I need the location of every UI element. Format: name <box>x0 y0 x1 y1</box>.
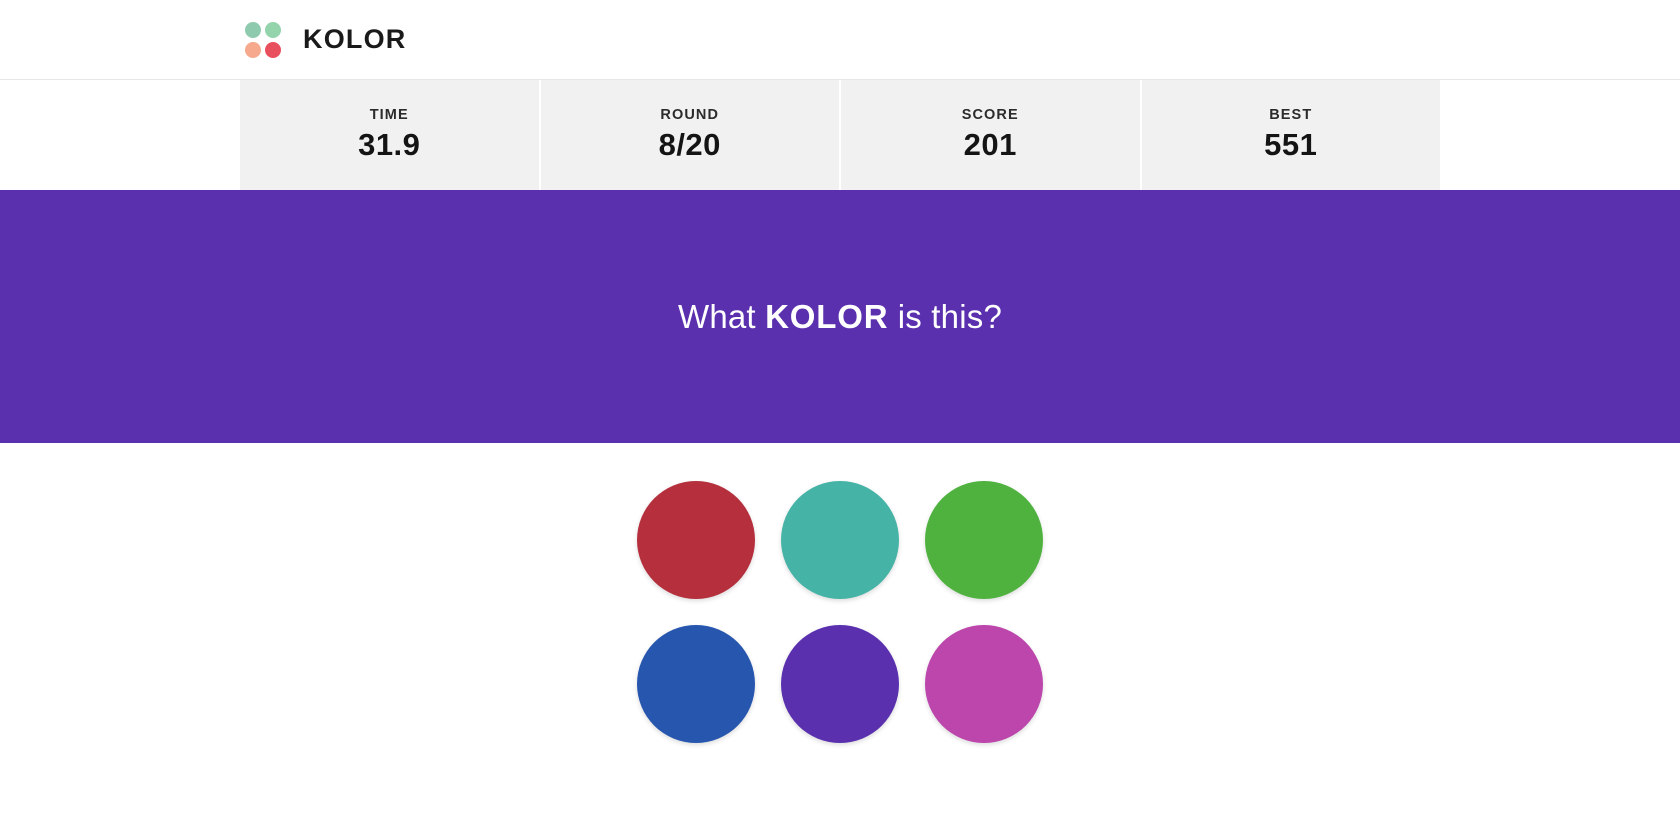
stat-round-label: ROUND <box>660 107 719 123</box>
stats-bar-wrapper: TIME 31.9 ROUND 8/20 SCORE 201 BEST 551 <box>0 80 1680 190</box>
stats-bar: TIME 31.9 ROUND 8/20 SCORE 201 BEST 551 <box>240 80 1440 190</box>
logo-dot-bottom-right <box>265 42 281 58</box>
stat-time-value: 31.9 <box>358 127 420 163</box>
logo-dots-icon <box>245 22 281 58</box>
swatch-red[interactable] <box>637 481 755 599</box>
app-header: KOLOR <box>0 0 1680 80</box>
question-suffix: is this? <box>888 298 1002 335</box>
stat-score-value: 201 <box>964 127 1017 163</box>
swatch-magenta[interactable] <box>925 625 1043 743</box>
stat-best-value: 551 <box>1264 127 1317 163</box>
question-keyword: KOLOR <box>765 298 888 335</box>
stat-time-label: TIME <box>370 107 409 123</box>
swatch-blue[interactable] <box>637 625 755 743</box>
swatch-purple[interactable] <box>781 625 899 743</box>
question-text: What KOLOR is this? <box>678 298 1002 336</box>
brand-logo[interactable]: KOLOR <box>245 22 407 58</box>
logo-dot-bottom-left <box>245 42 261 58</box>
question-prefix: What <box>678 298 765 335</box>
swatch-grid <box>637 481 1043 743</box>
logo-dot-top-left <box>245 22 261 38</box>
stat-score-label: SCORE <box>962 107 1019 123</box>
logo-dot-top-right <box>265 22 281 38</box>
stat-time: TIME 31.9 <box>240 80 541 190</box>
question-banner: What KOLOR is this? <box>0 190 1680 443</box>
brand-name: KOLOR <box>303 24 407 55</box>
swatch-green[interactable] <box>925 481 1043 599</box>
stat-round: ROUND 8/20 <box>541 80 842 190</box>
stat-round-value: 8/20 <box>659 127 721 163</box>
swatch-teal[interactable] <box>781 481 899 599</box>
answer-area <box>0 443 1680 743</box>
stat-score: SCORE 201 <box>841 80 1142 190</box>
stat-best-label: BEST <box>1269 107 1312 123</box>
stat-best: BEST 551 <box>1142 80 1441 190</box>
